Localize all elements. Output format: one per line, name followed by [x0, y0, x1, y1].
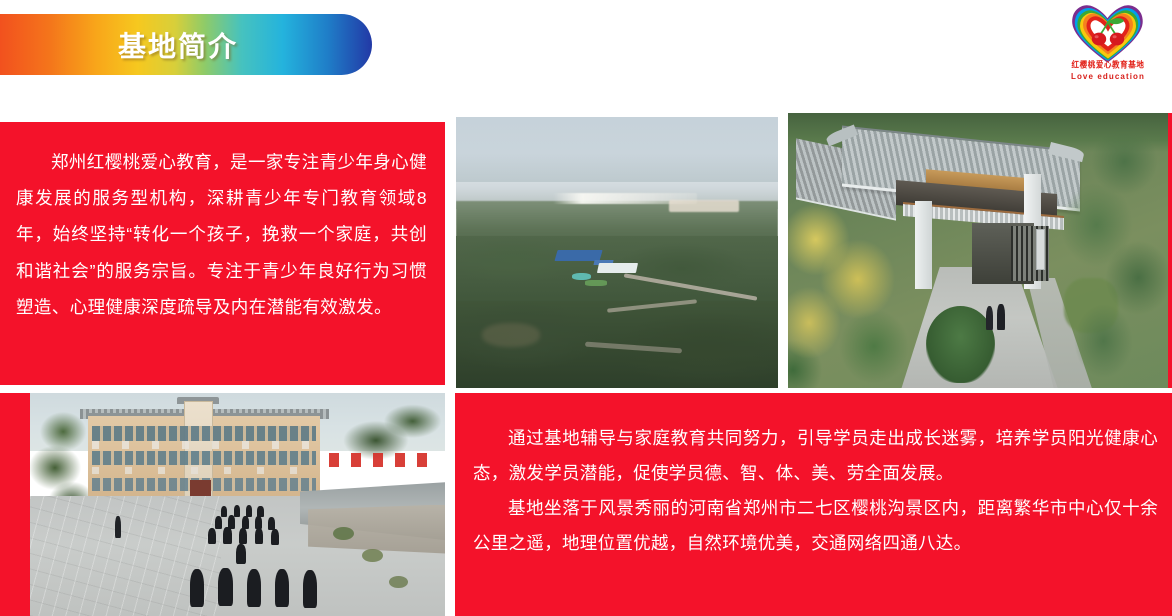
- base-introduction-page: 基地简介 红樱桃爱心教育基地 Love education 郑州红樱: [0, 0, 1172, 616]
- foreground-bush: [926, 306, 995, 383]
- logo-english-text: Love education: [1052, 72, 1164, 81]
- student-formation: [30, 393, 445, 616]
- courtyard-formation-photo: [30, 393, 445, 616]
- person-walking-1: [986, 306, 994, 331]
- aerial-valley-photo: [456, 117, 778, 388]
- courtyard-scene: [30, 393, 445, 616]
- brand-logo: 红樱桃爱心教育基地 Love education: [1052, 2, 1164, 94]
- intro-paragraph: 郑州红樱桃爱心教育，是一家专注青少年身心健康发展的服务型机构，深耕青少年专门教育…: [16, 144, 427, 325]
- pool: [572, 273, 591, 280]
- intro-text-panel: 郑州红樱桃爱心教育，是一家专注青少年身心健康发展的服务型机构，深耕青少年专门教育…: [0, 122, 445, 385]
- right-red-edge: [1168, 113, 1172, 388]
- trees-right: [1041, 130, 1172, 389]
- clearing: [482, 323, 540, 347]
- green-field: [585, 280, 608, 286]
- outro-text-panel: 通过基地辅导与家庭教育共同努力，引导学员走出成长迷雾，培养学员阳光健康心态，激发…: [455, 393, 1172, 616]
- left-red-strip: [0, 393, 30, 616]
- white-roof-building: [597, 263, 638, 273]
- traditional-gate-photo: [788, 113, 1172, 388]
- person-walking-2: [997, 304, 1005, 330]
- logo-chinese-text: 红樱桃爱心教育基地: [1052, 58, 1164, 71]
- page-title: 基地简介: [118, 25, 238, 65]
- gate-scene: [788, 113, 1172, 388]
- distant-town-2: [669, 200, 740, 212]
- outro-paragraph-2: 基地坐落于风景秀丽的河南省郑州市二七区樱桃沟景区内，距离繁华市中心仅十余公里之遥…: [473, 491, 1158, 561]
- autumn-trees-left: [788, 196, 942, 389]
- section-banner: 基地简介: [0, 14, 372, 75]
- outro-paragraph-1: 通过基地辅导与家庭教育共同努力，引导学员走出成长迷雾，培养学员阳光健康心态，激发…: [473, 421, 1158, 491]
- aerial-scene: [456, 117, 778, 388]
